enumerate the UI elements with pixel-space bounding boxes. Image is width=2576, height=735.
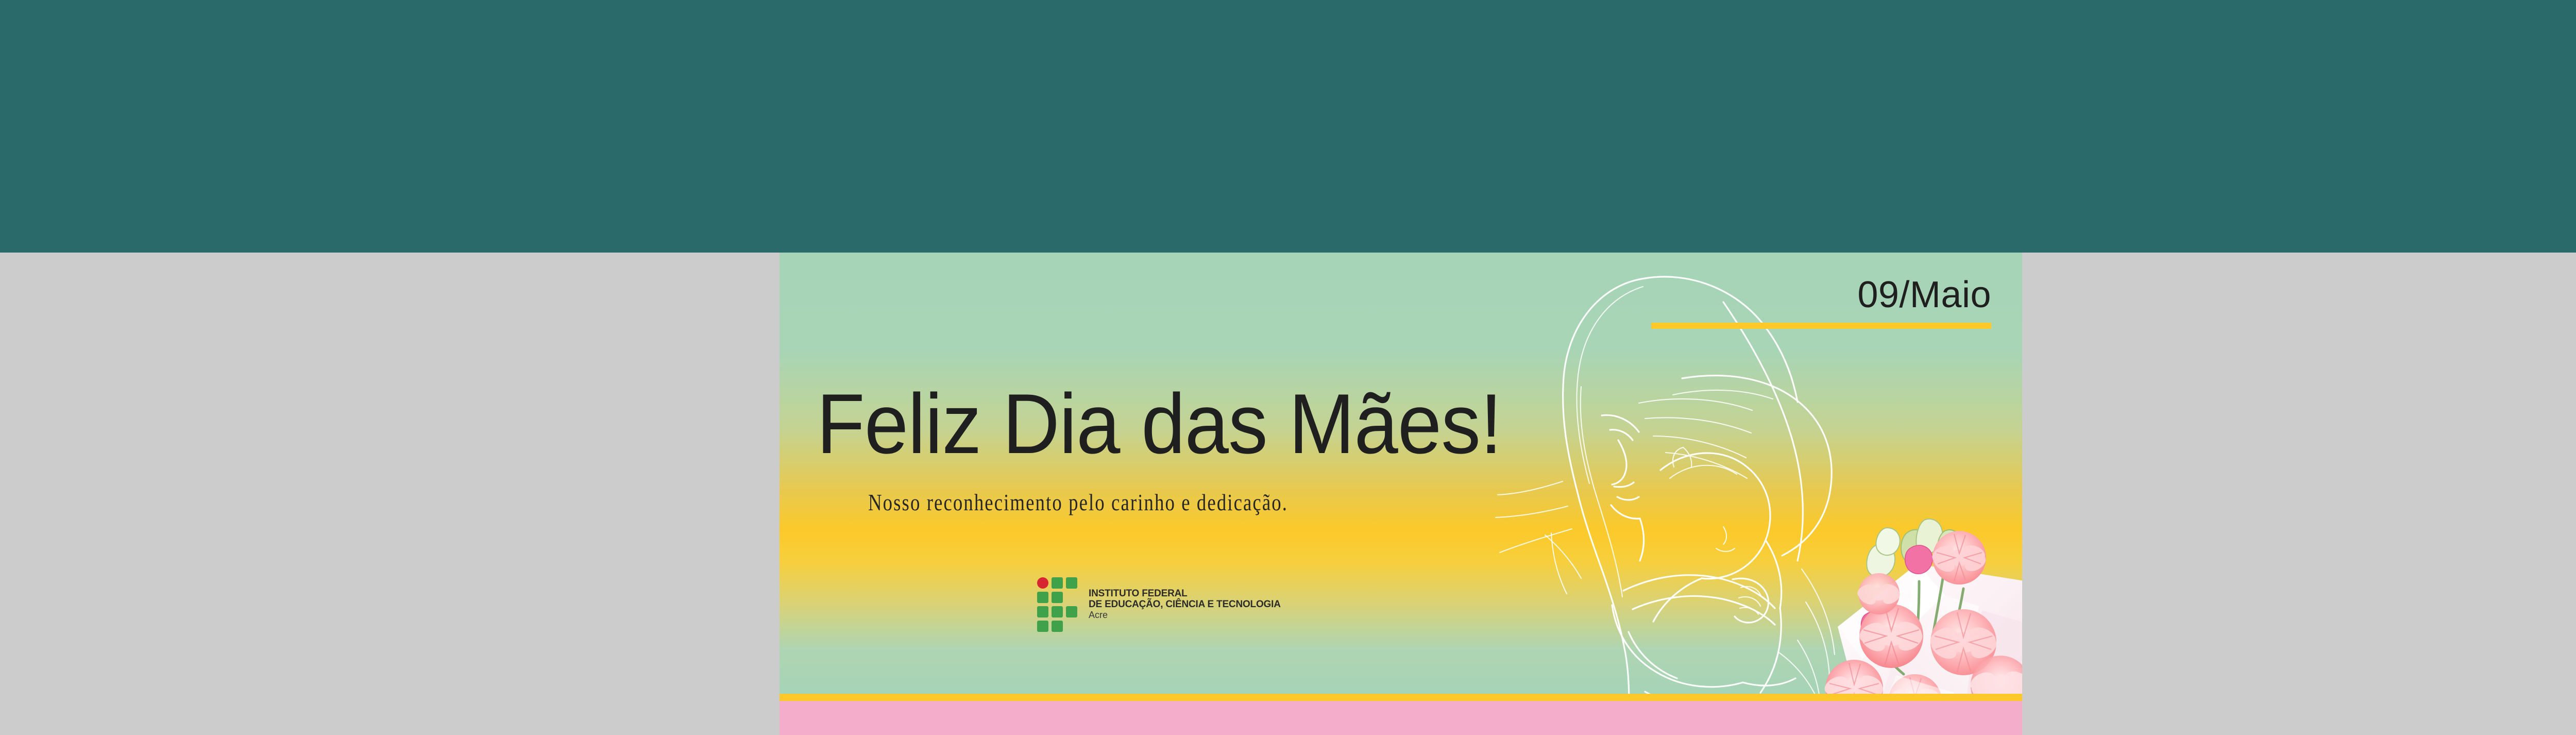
logo-wordmark: INSTITUTO FEDERAL DE EDUCAÇÃO, CIÊNCIA E…: [1089, 589, 1281, 620]
logo-square: [1066, 606, 1077, 617]
logo-line-1: INSTITUTO FEDERAL: [1089, 589, 1281, 599]
logo-square: [1037, 621, 1048, 632]
date-badge-text: 09/Maio: [1641, 276, 1991, 313]
logo-square: [1052, 592, 1063, 603]
banner-footer-pink-band: [779, 701, 2022, 735]
logo-square: [1037, 592, 1048, 603]
banner-subheadline: Nosso reconhecimento pelo carinho e dedi…: [868, 489, 1288, 516]
date-badge: 09/Maio: [1641, 276, 1991, 329]
if-logo-mark: [1037, 577, 1079, 632]
logo-line-2: DE EDUCAÇÃO, CIÊNCIA E TECNOLOGIA: [1089, 599, 1281, 610]
date-underline-rule: [1651, 323, 1991, 329]
logo-gap: [1066, 621, 1077, 632]
instituto-federal-acre-logo[interactable]: INSTITUTO FEDERAL DE EDUCAÇÃO, CIÊNCIA E…: [1037, 577, 1281, 632]
logo-square: [1066, 577, 1077, 589]
logo-dot-red: [1037, 577, 1048, 589]
logo-square: [1052, 621, 1063, 632]
logo-gap: [1066, 592, 1077, 603]
logo-square: [1052, 606, 1063, 617]
mothers-day-banner[interactable]: 09/Maio Feliz Dia das Mães! Nosso reconh…: [779, 253, 2022, 735]
banner-headline: Feliz Dia das Mães!: [817, 381, 1502, 466]
logo-square: [1037, 606, 1048, 617]
banner-bottom-yellow-rule: [779, 694, 2022, 701]
logo-line-3: Acre: [1089, 610, 1281, 620]
site-header-bar: [0, 0, 2576, 253]
logo-square: [1052, 577, 1063, 589]
